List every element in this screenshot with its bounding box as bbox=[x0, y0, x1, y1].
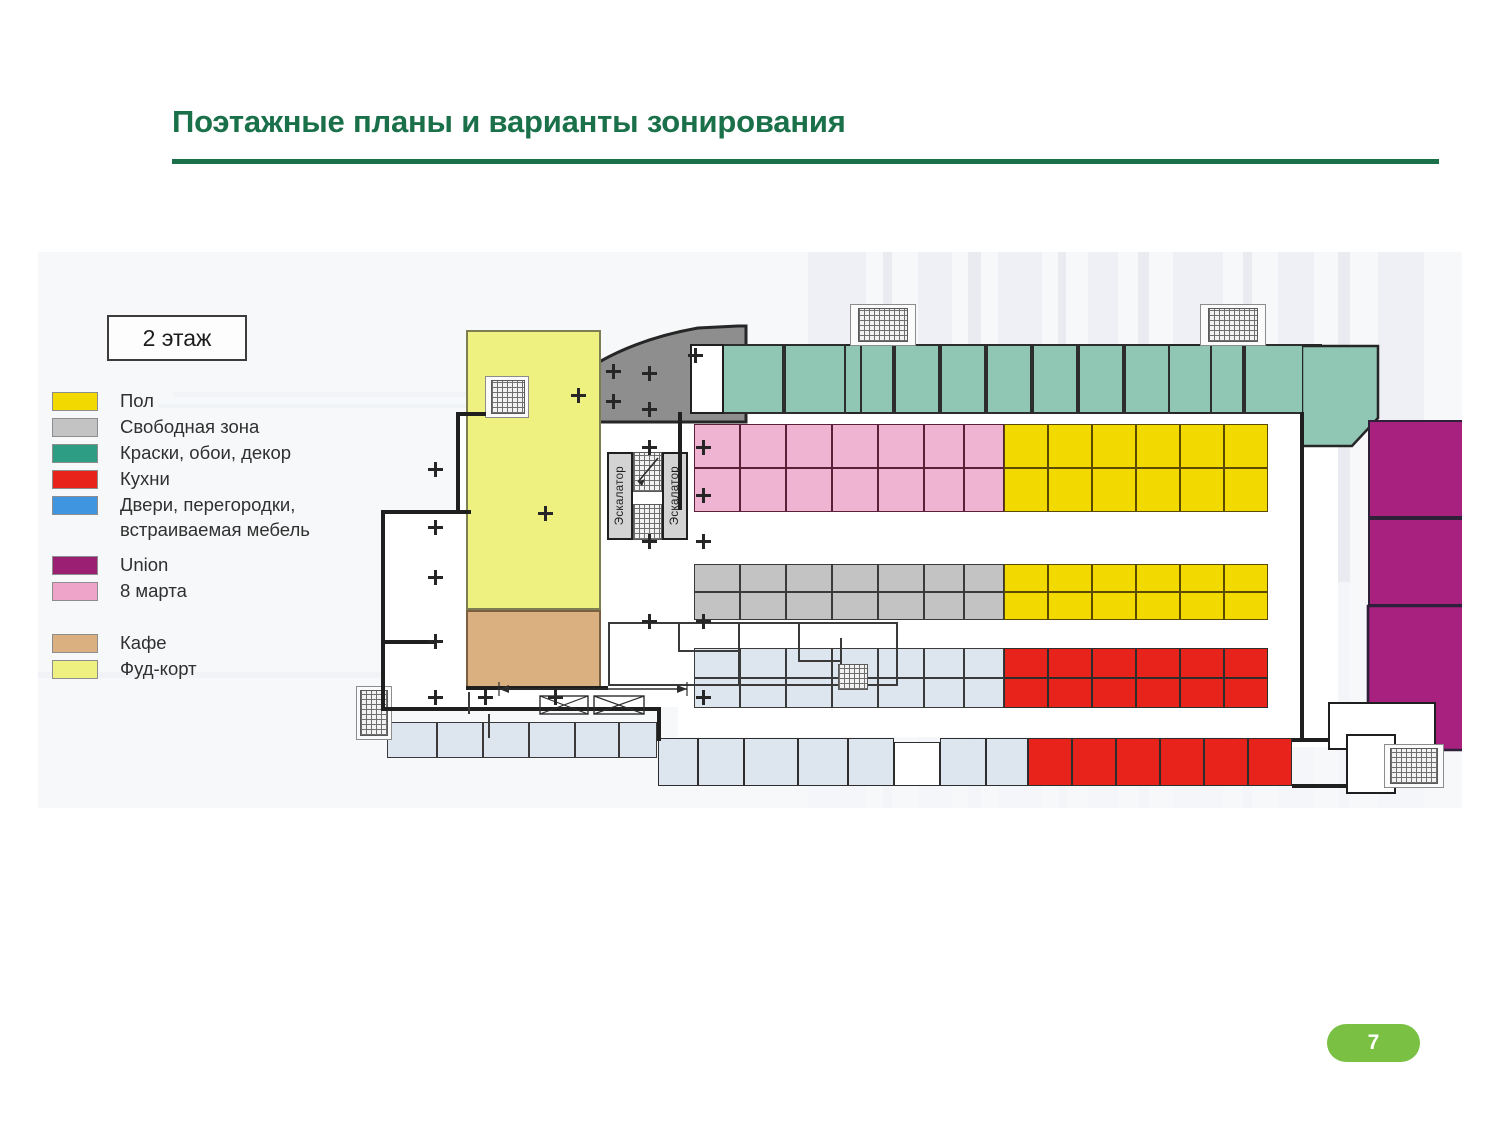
unit-cell bbox=[1092, 424, 1136, 468]
partition-wall bbox=[798, 660, 842, 662]
title-divider bbox=[172, 159, 1439, 164]
column-marker bbox=[696, 690, 711, 705]
unit-cell bbox=[1004, 678, 1048, 708]
unit-cell bbox=[1136, 564, 1180, 592]
unit-cell bbox=[924, 678, 964, 708]
unit-cell bbox=[740, 648, 786, 678]
partition-wall bbox=[678, 650, 738, 652]
unit-cell bbox=[786, 468, 832, 512]
unit-cell bbox=[529, 722, 575, 758]
unit-cell bbox=[1224, 678, 1268, 708]
unit-cell bbox=[1180, 648, 1224, 678]
unit-cell bbox=[1048, 564, 1092, 592]
unit-cell bbox=[894, 344, 940, 414]
wall-segment bbox=[1300, 412, 1304, 742]
partition-wall bbox=[840, 638, 842, 664]
unit-cell bbox=[1210, 344, 1244, 414]
partition-wall bbox=[738, 622, 740, 686]
unit-cell bbox=[924, 424, 964, 468]
column-marker bbox=[606, 364, 621, 379]
unit-cell bbox=[786, 678, 832, 708]
zone-union-block bbox=[1368, 518, 1462, 606]
unit-cell bbox=[1180, 424, 1224, 468]
zone-food-court bbox=[466, 330, 601, 610]
unit-cell bbox=[786, 564, 832, 592]
unit-cell bbox=[986, 738, 1028, 786]
unit-cell bbox=[848, 738, 894, 786]
dimension-line bbox=[493, 680, 693, 698]
wall-segment bbox=[657, 707, 661, 741]
wall-segment bbox=[678, 412, 682, 510]
column-marker bbox=[642, 534, 657, 549]
unit-cell bbox=[964, 678, 1004, 708]
unit-cell bbox=[1180, 564, 1224, 592]
unit-cell bbox=[1224, 564, 1268, 592]
unit-cell bbox=[387, 722, 437, 758]
unit-cell bbox=[878, 678, 924, 708]
column-marker bbox=[696, 440, 711, 455]
partition-wall bbox=[798, 622, 800, 662]
unit-cell bbox=[740, 424, 786, 468]
unit-cell bbox=[986, 344, 1032, 414]
unit-cell bbox=[964, 468, 1004, 512]
unit-cell bbox=[784, 344, 846, 414]
unit-cell bbox=[575, 722, 619, 758]
service-stair-icon bbox=[838, 664, 868, 690]
partition-wall bbox=[488, 714, 490, 738]
unit-cell bbox=[1032, 344, 1078, 414]
column-marker bbox=[606, 394, 621, 409]
column-marker bbox=[571, 388, 586, 403]
wall-segment bbox=[456, 412, 486, 416]
unit-cell bbox=[798, 738, 848, 786]
unit-cell bbox=[1248, 738, 1292, 786]
unit-cell bbox=[924, 468, 964, 512]
unit-cell bbox=[832, 564, 878, 592]
unit-cell bbox=[924, 648, 964, 678]
wall-segment bbox=[381, 510, 385, 710]
unit-cell bbox=[786, 424, 832, 468]
unit-cell-vacant bbox=[894, 742, 940, 786]
unit-cell bbox=[1160, 738, 1204, 786]
unit-cell bbox=[1224, 468, 1268, 512]
unit-cell bbox=[964, 564, 1004, 592]
unit-cell bbox=[878, 424, 924, 468]
unit-cell bbox=[744, 738, 798, 786]
unit-cell bbox=[1004, 592, 1048, 620]
floor-plan-geometry: Эскалатор Эскалатор bbox=[38, 252, 1462, 808]
column-marker bbox=[696, 534, 711, 549]
unit-cell bbox=[437, 722, 483, 758]
unit-cell bbox=[832, 424, 878, 468]
unit-cell bbox=[1028, 738, 1072, 786]
stairwell-icon bbox=[1208, 308, 1258, 342]
unit-cell bbox=[964, 592, 1004, 620]
unit-cell bbox=[1004, 468, 1048, 512]
column-marker bbox=[642, 614, 657, 629]
escalator-direction-arrow bbox=[634, 454, 661, 490]
unit-cell bbox=[1048, 424, 1092, 468]
unit-cell bbox=[1136, 648, 1180, 678]
unit-cell bbox=[924, 592, 964, 620]
column-marker bbox=[428, 690, 443, 705]
unit-cell bbox=[694, 564, 740, 592]
column-marker bbox=[642, 366, 657, 381]
unit-cell bbox=[1078, 344, 1124, 414]
unit-cell bbox=[1116, 738, 1160, 786]
stairwell-icon bbox=[858, 308, 908, 342]
zone-cafe bbox=[466, 610, 601, 690]
unit-cell bbox=[740, 592, 786, 620]
unit-cell bbox=[1180, 678, 1224, 708]
escalator-left: Эскалатор bbox=[607, 452, 633, 540]
unit-cell bbox=[1092, 564, 1136, 592]
stairwell-icon bbox=[1390, 748, 1438, 784]
escalator-right: Эскалатор bbox=[662, 452, 688, 540]
unit-cell bbox=[658, 738, 698, 786]
unit-cell bbox=[878, 564, 924, 592]
unit-cell bbox=[1180, 468, 1224, 512]
column-marker bbox=[428, 520, 443, 535]
column-marker bbox=[642, 402, 657, 417]
floor-plan-image: 2 этаж Пол Свободная зона Краски, обои, … bbox=[38, 252, 1462, 808]
partition-wall bbox=[896, 622, 898, 686]
unit-cell bbox=[878, 592, 924, 620]
escalator-label: Эскалатор bbox=[614, 466, 626, 525]
unit-cell bbox=[1004, 424, 1048, 468]
unit-cell bbox=[940, 344, 986, 414]
stairwell-icon bbox=[491, 380, 525, 414]
unit-cell bbox=[1136, 678, 1180, 708]
unit-cell bbox=[786, 648, 832, 678]
unit-cell bbox=[832, 468, 878, 512]
wall-segment bbox=[1292, 784, 1352, 788]
unit-cell bbox=[1136, 468, 1180, 512]
unit-cell bbox=[940, 738, 986, 786]
page-title: Поэтажные планы и варианты зонирования bbox=[172, 104, 846, 140]
unit-cell bbox=[1180, 592, 1224, 620]
column-marker bbox=[538, 506, 553, 521]
unit-cell bbox=[786, 592, 832, 620]
wall-segment bbox=[456, 412, 460, 512]
column-marker bbox=[696, 614, 711, 629]
partition-wall bbox=[468, 692, 470, 714]
unit-cell bbox=[878, 468, 924, 512]
unit-cell bbox=[694, 648, 740, 678]
unit-cell bbox=[964, 648, 1004, 678]
unit-cell bbox=[1204, 738, 1248, 786]
page-number-badge: 7 bbox=[1327, 1024, 1420, 1062]
unit-cell bbox=[860, 344, 894, 414]
unit-cell bbox=[722, 344, 784, 414]
unit-cell bbox=[1092, 678, 1136, 708]
column-marker bbox=[428, 570, 443, 585]
unit-cell bbox=[1048, 648, 1092, 678]
unit-cell bbox=[1224, 424, 1268, 468]
partition-wall bbox=[608, 622, 610, 686]
unit-cell bbox=[1004, 564, 1048, 592]
column-marker bbox=[428, 634, 443, 649]
unit-cell bbox=[619, 722, 657, 758]
column-marker bbox=[642, 440, 657, 455]
unit-cell bbox=[1092, 648, 1136, 678]
unit-cell bbox=[1136, 592, 1180, 620]
unit-cell bbox=[1048, 592, 1092, 620]
column-marker bbox=[428, 462, 443, 477]
unit-cell bbox=[698, 738, 744, 786]
unit-cell bbox=[878, 648, 924, 678]
unit-cell bbox=[1004, 648, 1048, 678]
column-marker bbox=[478, 690, 493, 705]
unit-cell bbox=[1136, 424, 1180, 468]
unit-cell bbox=[740, 678, 786, 708]
unit-cell bbox=[740, 564, 786, 592]
unit-cell bbox=[1224, 592, 1268, 620]
unit-cell bbox=[832, 592, 878, 620]
zone-union-block bbox=[1368, 420, 1462, 518]
unit-cell bbox=[964, 424, 1004, 468]
unit-cell bbox=[1048, 468, 1092, 512]
unit-cell bbox=[1092, 468, 1136, 512]
unit-cell bbox=[1072, 738, 1116, 786]
column-marker bbox=[688, 348, 703, 363]
unit-cell bbox=[924, 564, 964, 592]
unit-cell bbox=[1124, 344, 1170, 414]
unit-cell bbox=[1244, 344, 1304, 414]
unit-cell bbox=[1092, 592, 1136, 620]
column-marker bbox=[696, 488, 711, 503]
unit-cell bbox=[740, 468, 786, 512]
unit-cell bbox=[1224, 648, 1268, 678]
unit-cell bbox=[1048, 678, 1092, 708]
partition-wall bbox=[678, 622, 680, 652]
